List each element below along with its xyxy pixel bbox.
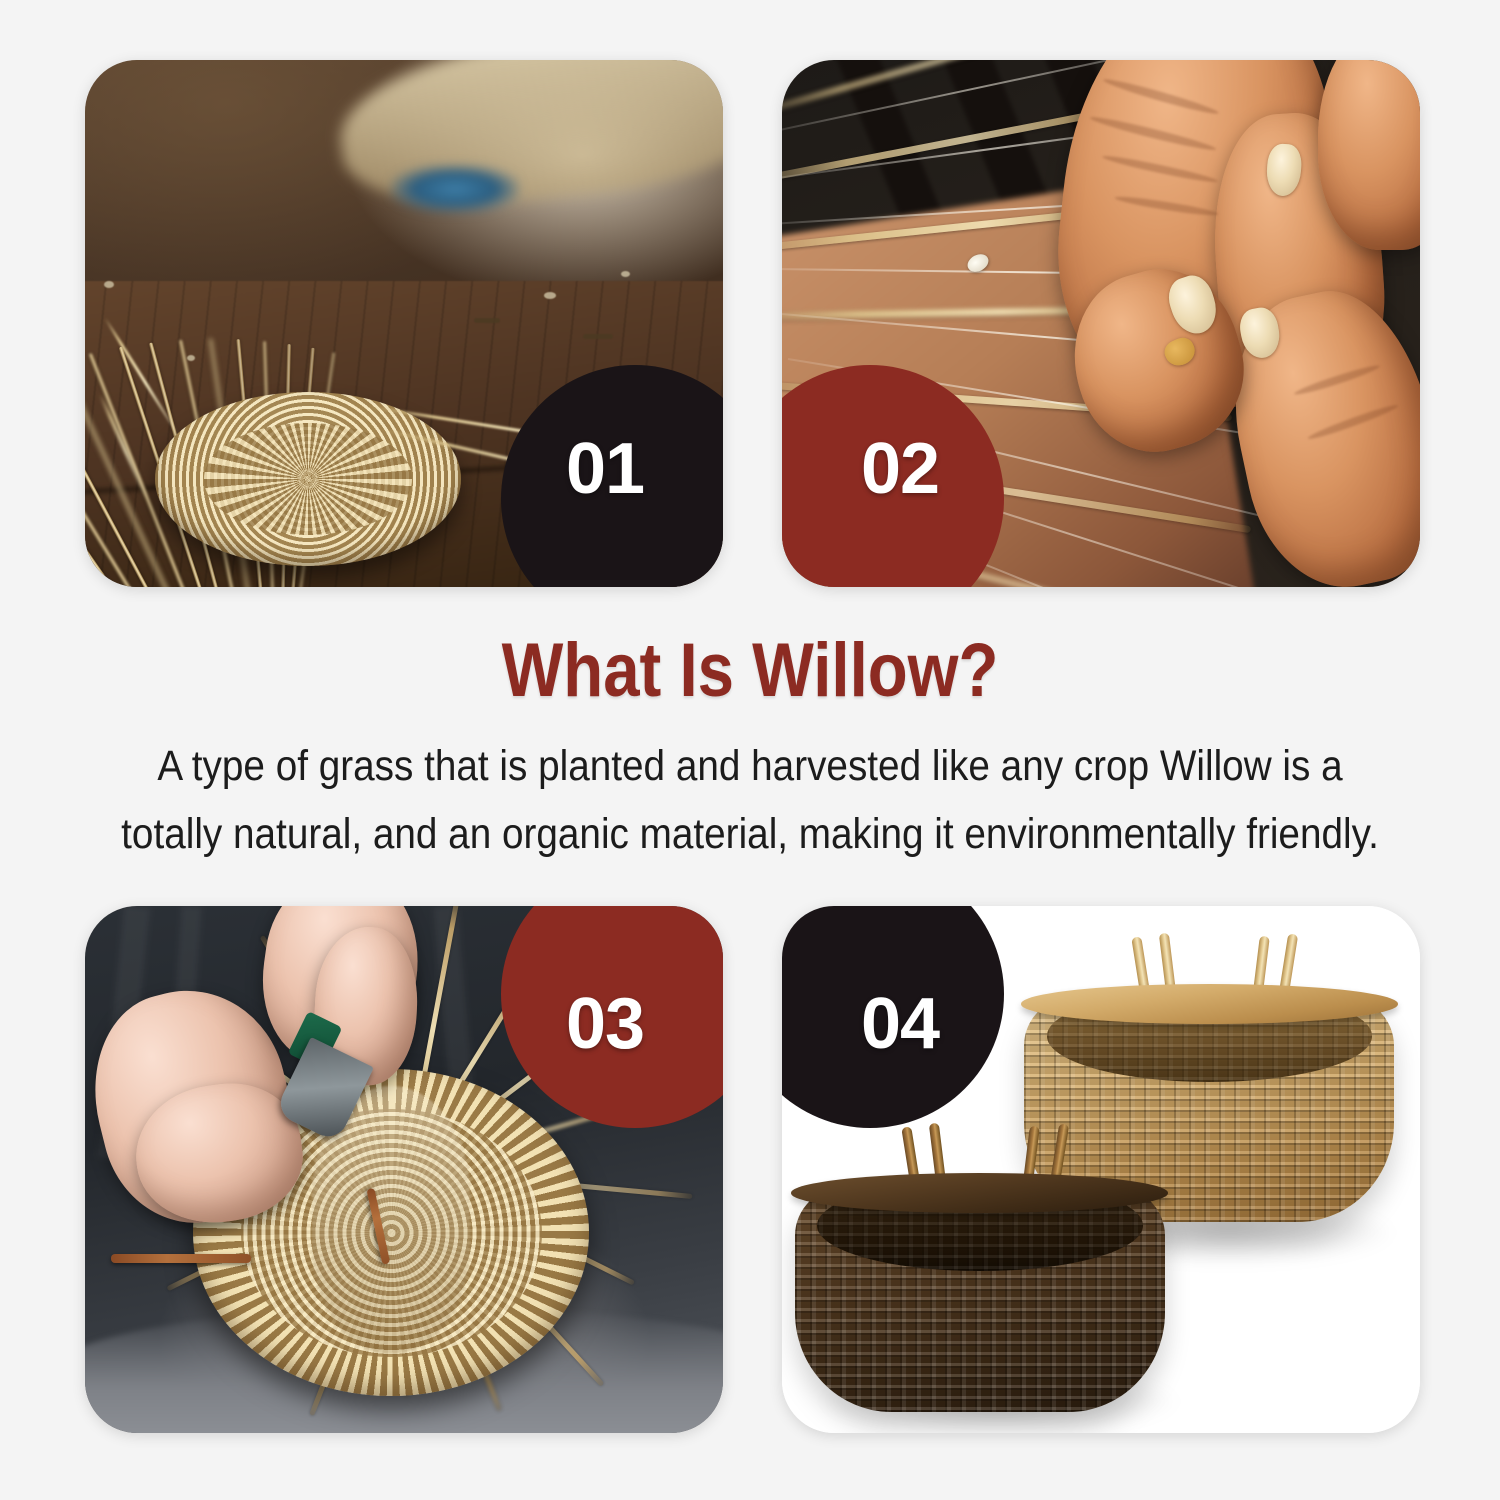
page-title: What Is Willow? xyxy=(105,628,1395,714)
willow-infographic: 01 xyxy=(0,0,1500,1500)
step-number-label: 01 xyxy=(566,428,644,510)
panel-step-03: 03 xyxy=(85,906,723,1433)
basket-dark-stained xyxy=(795,1106,1165,1412)
headline-block: What Is Willow? A type of grass that is … xyxy=(0,628,1500,868)
panel-step-01: 01 xyxy=(85,60,723,587)
panel-step-04: 04 xyxy=(782,906,1420,1433)
panel-step-02: 02 xyxy=(782,60,1420,587)
step-number-label: 02 xyxy=(861,428,939,510)
step-number-label: 04 xyxy=(861,983,939,1065)
page-description: A type of grass that is planted and harv… xyxy=(120,732,1380,868)
step-number-label: 03 xyxy=(566,983,644,1065)
